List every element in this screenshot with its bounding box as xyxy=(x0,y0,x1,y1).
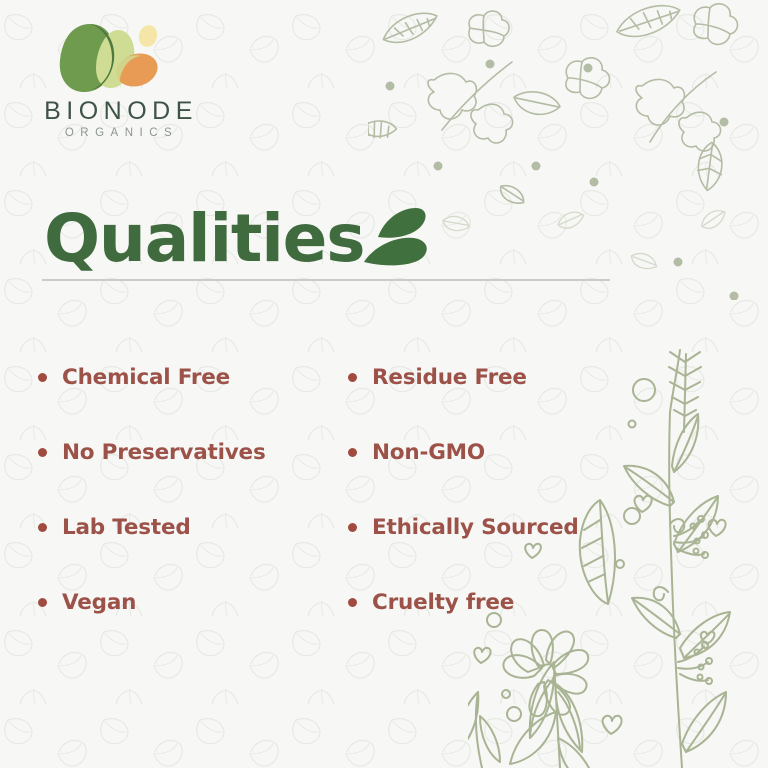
bullet-dot-icon xyxy=(38,373,47,382)
list-item-label: No Preservatives xyxy=(62,440,266,465)
brand-wordmark: BIONODE xyxy=(34,98,204,124)
list-item-label: Chemical Free xyxy=(62,365,230,390)
list-item-label: Non-GMO xyxy=(372,440,485,465)
bullet-dot-icon xyxy=(38,448,47,457)
bullet-dot-icon xyxy=(38,523,47,532)
organic-blob-leaf-logo-icon xyxy=(56,22,166,94)
list-item[interactable]: Vegan xyxy=(38,565,348,640)
bullet-dot-icon xyxy=(38,598,47,607)
list-item[interactable]: Ethically Sourced xyxy=(348,490,658,565)
list-item-label: Ethically Sourced xyxy=(372,515,579,540)
list-item[interactable]: No Preservatives xyxy=(38,415,348,490)
poster-canvas: BIONODE ORGANICS Qualities Chemical Free… xyxy=(0,0,768,768)
page-title-row: Qualities xyxy=(44,196,432,272)
bullet-dot-icon xyxy=(348,598,357,607)
list-item-label: Lab Tested xyxy=(62,515,191,540)
brand-logo[interactable]: BIONODE ORGANICS xyxy=(34,22,204,139)
list-item[interactable]: Residue Free xyxy=(348,340,658,415)
list-item-label: Cruelty free xyxy=(372,590,514,615)
bullet-dot-icon xyxy=(348,523,357,532)
qualities-list: Chemical Free Residue Free No Preservati… xyxy=(38,340,678,640)
list-item-label: Vegan xyxy=(62,590,136,615)
list-item[interactable]: Cruelty free xyxy=(348,565,658,640)
bullet-dot-icon xyxy=(348,373,357,382)
list-item[interactable]: Non-GMO xyxy=(348,415,658,490)
page-title: Qualities xyxy=(44,206,364,272)
sprout-leaf-icon xyxy=(360,204,432,266)
list-item-label: Residue Free xyxy=(372,365,527,390)
list-item[interactable]: Chemical Free xyxy=(38,340,348,415)
brand-tagline: ORGANICS xyxy=(34,127,204,139)
list-item[interactable]: Lab Tested xyxy=(38,490,348,565)
title-divider xyxy=(42,279,610,281)
bullet-dot-icon xyxy=(348,448,357,457)
